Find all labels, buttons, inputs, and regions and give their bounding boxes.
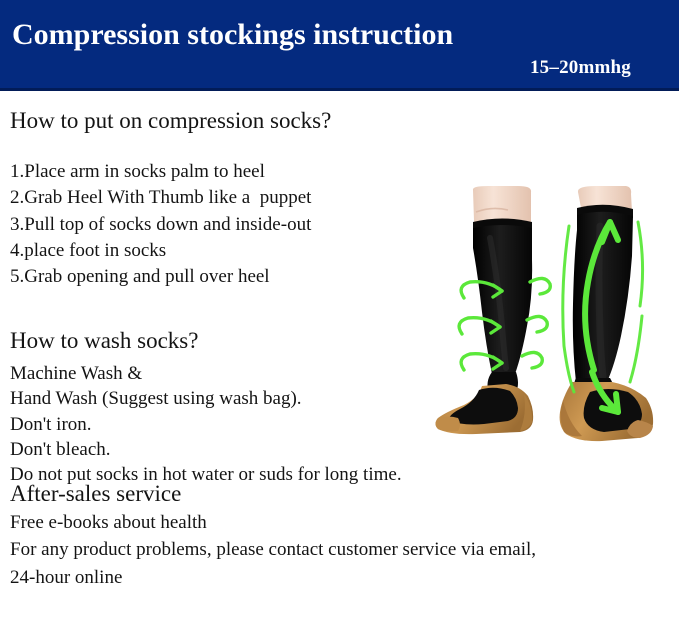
heading-after-sales-service: After-sales service xyxy=(10,481,181,506)
list-item: Free e-books about health xyxy=(10,512,630,533)
compression-socks-illustration xyxy=(432,186,678,452)
wash-instructions-list: Machine Wash & Hand Wash (Suggest using … xyxy=(0,363,500,489)
flow-outline-right-upper xyxy=(638,222,643,306)
list-item: 2.Grab Heel With Thumb like a puppet xyxy=(10,187,450,208)
instruction-sheet: Compression stockings instruction 15–20m… xyxy=(0,0,679,626)
flow-outline-right-lower xyxy=(630,316,642,382)
compression-arrow-right-1 xyxy=(530,278,550,294)
list-item: 1.Place arm in socks palm to heel xyxy=(10,161,450,182)
compression-arrow-right-3 xyxy=(522,352,542,368)
left-leg-group xyxy=(436,186,534,434)
after-sales-details-list: Free e-books about health For any produc… xyxy=(0,512,620,594)
put-on-steps-list: 1.Place arm in socks palm to heel 2.Grab… xyxy=(0,161,440,292)
flow-outline-left xyxy=(563,226,574,392)
left-toe-cap xyxy=(436,417,461,432)
list-item: 4.place foot in socks xyxy=(10,240,450,261)
pressure-rating-label: 15–20mmhg xyxy=(530,57,631,79)
list-item: 3.Pull top of socks down and inside-out xyxy=(10,214,450,235)
list-item: 24-hour online xyxy=(10,567,630,588)
page-title: Compression stockings instruction xyxy=(12,19,453,51)
header-banner: Compression stockings instruction 15–20m… xyxy=(0,0,679,91)
heading-how-to-wash: How to wash socks? xyxy=(10,328,198,353)
list-item: For any product problems, please contact… xyxy=(10,539,630,560)
compression-arrow-right-2 xyxy=(527,316,547,332)
heading-how-to-put-on: How to put on compression socks? xyxy=(10,108,331,133)
list-item: 5.Grab opening and pull over heel xyxy=(10,266,450,287)
